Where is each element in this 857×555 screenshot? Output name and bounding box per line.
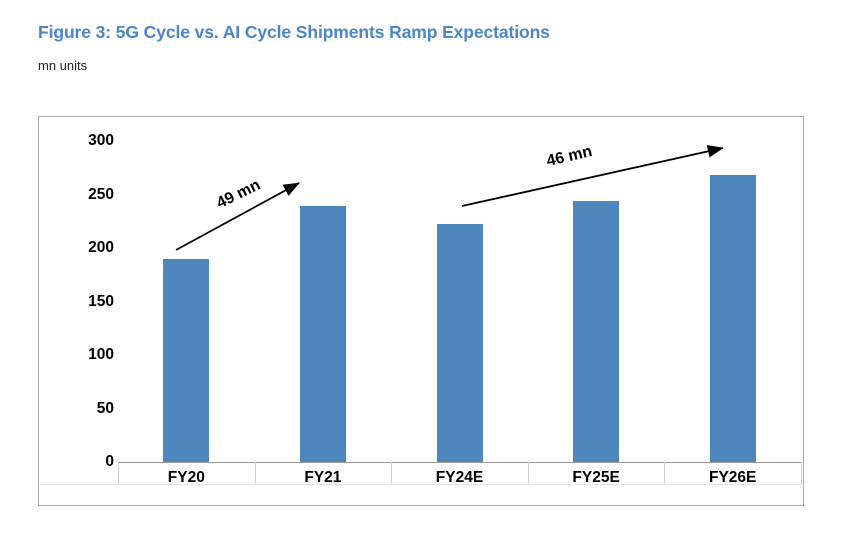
chart-subtitle: mn units [38,58,87,73]
bar-series [39,117,805,507]
page-title: Figure 3: 5G Cycle vs. AI Cycle Shipment… [38,22,550,43]
bar-fy21 [300,206,346,462]
x-axis-tick-label: FY25E [529,469,664,487]
bar-fy20 [163,259,209,462]
category-separator [801,462,802,484]
x-axis-line [118,462,801,463]
x-axis-tick-label: FY26E [665,469,800,487]
bar-fy25e [573,201,619,462]
x-axis-tick-label: FY20 [119,469,254,487]
figure-page: Figure 3: 5G Cycle vs. AI Cycle Shipment… [0,0,857,555]
x-axis-tick-label: FY21 [255,469,390,487]
plot-area: 300 250 200 150 100 50 0 FY20 FY21 FY24E… [39,117,805,507]
chart-frame: 300 250 200 150 100 50 0 FY20 FY21 FY24E… [38,116,804,506]
x-axis-tick-label: FY24E [392,469,527,487]
bar-fy24e [437,224,483,462]
bar-fy26e [710,175,756,462]
